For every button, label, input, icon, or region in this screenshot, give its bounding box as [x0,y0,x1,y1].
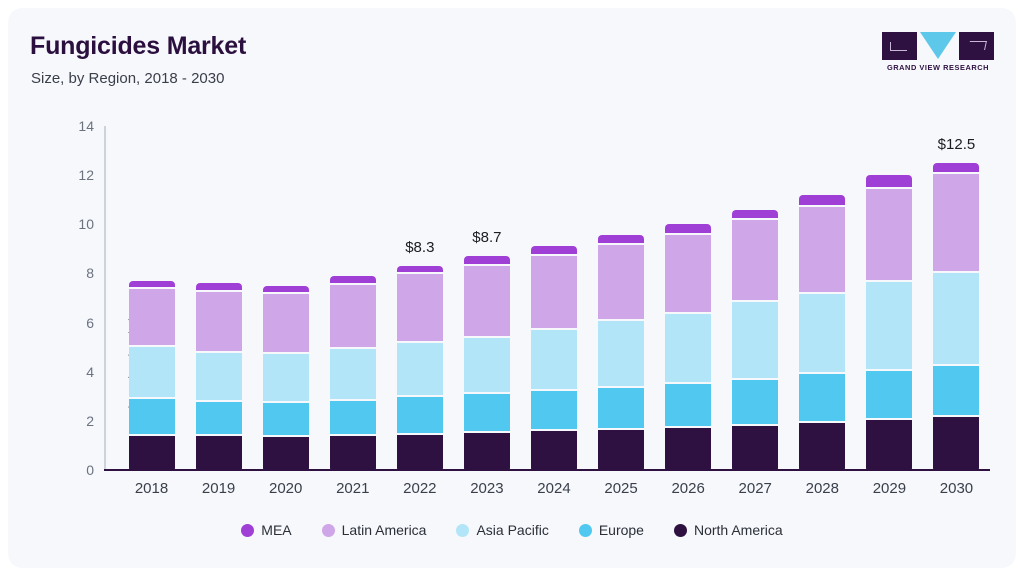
logo-square-right-icon [959,32,994,60]
bar-segment[interactable] [866,187,912,280]
stacked-bar[interactable] [196,283,242,470]
stacked-bar[interactable] [665,224,711,470]
bar-series-container: 2018201920202021$8.32022$8.7202320242025… [118,126,990,470]
bar-segment[interactable] [196,351,242,401]
bar-segment[interactable] [330,347,376,399]
bar-segment[interactable] [397,395,443,432]
bar-segment[interactable] [799,292,845,372]
bar-group[interactable]: 2024 [520,126,587,470]
bar-segment[interactable] [799,372,845,422]
bar-segment[interactable] [196,290,242,351]
bar-segment[interactable] [598,428,644,470]
bar-value-label: $12.5 [915,136,998,153]
bar-group[interactable]: $12.52030 [923,126,990,470]
bar-group[interactable]: 2018 [118,126,185,470]
bar-segment[interactable] [933,415,979,470]
bar-segment[interactable] [732,300,778,377]
stacked-bar[interactable] [799,195,845,470]
bar-segment[interactable] [866,418,912,470]
logo-square-left-icon [882,32,917,60]
bar-segment[interactable] [397,433,443,470]
bar-value-label: $8.7 [445,229,528,246]
bar-segment[interactable] [129,287,175,345]
legend-item[interactable]: Latin America [322,522,427,538]
bar-segment[interactable] [598,386,644,428]
logo-triangle-icon [920,32,956,59]
legend-item[interactable]: MEA [241,522,291,538]
bar-segment[interactable] [665,382,711,426]
bar-group[interactable]: $8.72023 [453,126,520,470]
bar-segment[interactable] [531,254,577,328]
bar-segment[interactable] [330,399,376,434]
bar-segment[interactable] [732,424,778,470]
y-axis-tick-label: 8 [48,265,94,281]
legend-item[interactable]: Europe [579,522,644,538]
chart-header: Fungicides Market Size, by Region, 2018 … [8,8,1016,104]
bar-segment[interactable] [196,400,242,434]
bar-segment[interactable] [129,397,175,434]
page-title: Fungicides Market [30,32,246,61]
bar-group[interactable]: 2027 [722,126,789,470]
chart-legend: MEALatin AmericaAsia PacificEuropeNorth … [8,522,1016,538]
logo-mark [882,32,994,60]
bar-segment[interactable] [799,195,845,205]
stacked-bar[interactable] [464,256,510,470]
logo-text: GRAND VIEW RESEARCH [882,63,994,72]
legend-color-swatch [579,524,592,537]
legend-label: Latin America [342,522,427,538]
bar-segment[interactable] [196,434,242,470]
x-axis-tick-label: 2030 [915,480,998,497]
y-axis-tick-labels: 02468101214 [48,126,94,470]
bar-segment[interactable] [330,434,376,470]
grand-view-research-logo: GRAND VIEW RESEARCH [882,32,994,76]
legend-color-swatch [322,524,335,537]
bar-segment[interactable] [196,283,242,290]
bar-segment[interactable] [933,163,979,172]
bar-segment[interactable] [732,218,778,300]
legend-color-swatch [456,524,469,537]
bar-segment[interactable] [397,341,443,395]
bar-segment[interactable] [732,210,778,218]
chart-card: Fungicides Market Size, by Region, 2018 … [8,8,1016,568]
bar-segment[interactable] [933,271,979,364]
bar-segment[interactable] [665,426,711,470]
stacked-bar[interactable] [330,276,376,470]
legend-label: Europe [599,522,644,538]
stacked-bar[interactable] [866,175,912,470]
plot-area: 02468101214 Market Size (US$B) 201820192… [104,126,990,470]
stacked-bar[interactable] [397,266,443,470]
bar-group[interactable]: 2020 [252,126,319,470]
bar-group[interactable]: 2026 [655,126,722,470]
bar-segment[interactable] [598,235,644,243]
bar-segment[interactable] [129,434,175,470]
bar-segment[interactable] [732,378,778,424]
stacked-bar[interactable] [598,235,644,470]
bar-group[interactable]: 2028 [789,126,856,470]
bar-segment[interactable] [933,364,979,416]
bar-segment[interactable] [330,276,376,283]
bar-segment[interactable] [866,175,912,187]
stacked-bar[interactable] [129,281,175,470]
bar-group[interactable]: 2025 [588,126,655,470]
bar-group[interactable]: 2019 [185,126,252,470]
bar-segment[interactable] [799,421,845,470]
bar-segment[interactable] [464,431,510,470]
bar-segment[interactable] [866,280,912,368]
bar-segment[interactable] [531,328,577,389]
bar-segment[interactable] [330,283,376,347]
y-axis-tick-label: 10 [48,216,94,232]
bar-segment[interactable] [263,401,309,435]
bar-segment[interactable] [531,389,577,430]
legend-label: Asia Pacific [476,522,548,538]
y-axis-line [104,126,106,470]
bar-segment[interactable] [263,435,309,470]
bar-segment[interactable] [531,246,577,253]
bar-group[interactable]: $8.32022 [386,126,453,470]
bar-segment[interactable] [598,319,644,385]
y-axis-tick-label: 0 [48,462,94,478]
bar-segment[interactable] [531,429,577,470]
bar-group[interactable]: 2029 [856,126,923,470]
chart-subtitle: Size, by Region, 2018 - 2030 [31,70,224,87]
bar-segment[interactable] [665,224,711,233]
bar-segment[interactable] [263,352,309,401]
bar-group[interactable]: 2021 [319,126,386,470]
y-axis-tick-label: 12 [48,167,94,183]
bar-segment[interactable] [598,243,644,319]
stacked-bar[interactable] [933,163,979,470]
y-axis-tick-label: 2 [48,413,94,429]
legend-label: MEA [261,522,291,538]
bar-segment[interactable] [866,369,912,419]
bar-segment[interactable] [665,233,711,312]
legend-color-swatch [241,524,254,537]
legend-item[interactable]: Asia Pacific [456,522,548,538]
bar-segment[interactable] [933,172,979,270]
stacked-bar[interactable] [732,210,778,470]
bar-segment[interactable] [464,336,510,392]
bar-segment[interactable] [665,312,711,382]
legend-label: North America [694,522,783,538]
y-axis-tick-label: 6 [48,315,94,331]
y-axis-tick-label: 14 [48,118,94,134]
bar-segment[interactable] [799,205,845,292]
stacked-bar[interactable] [531,246,577,470]
bar-segment[interactable] [129,345,175,397]
bar-segment[interactable] [464,392,510,431]
bar-segment[interactable] [464,256,510,264]
bar-segment[interactable] [464,264,510,336]
y-axis-tick-label: 4 [48,364,94,380]
stacked-bar[interactable] [263,286,309,470]
bar-segment[interactable] [397,272,443,341]
legend-item[interactable]: North America [674,522,783,538]
legend-color-swatch [674,524,687,537]
bar-segment[interactable] [263,292,309,351]
